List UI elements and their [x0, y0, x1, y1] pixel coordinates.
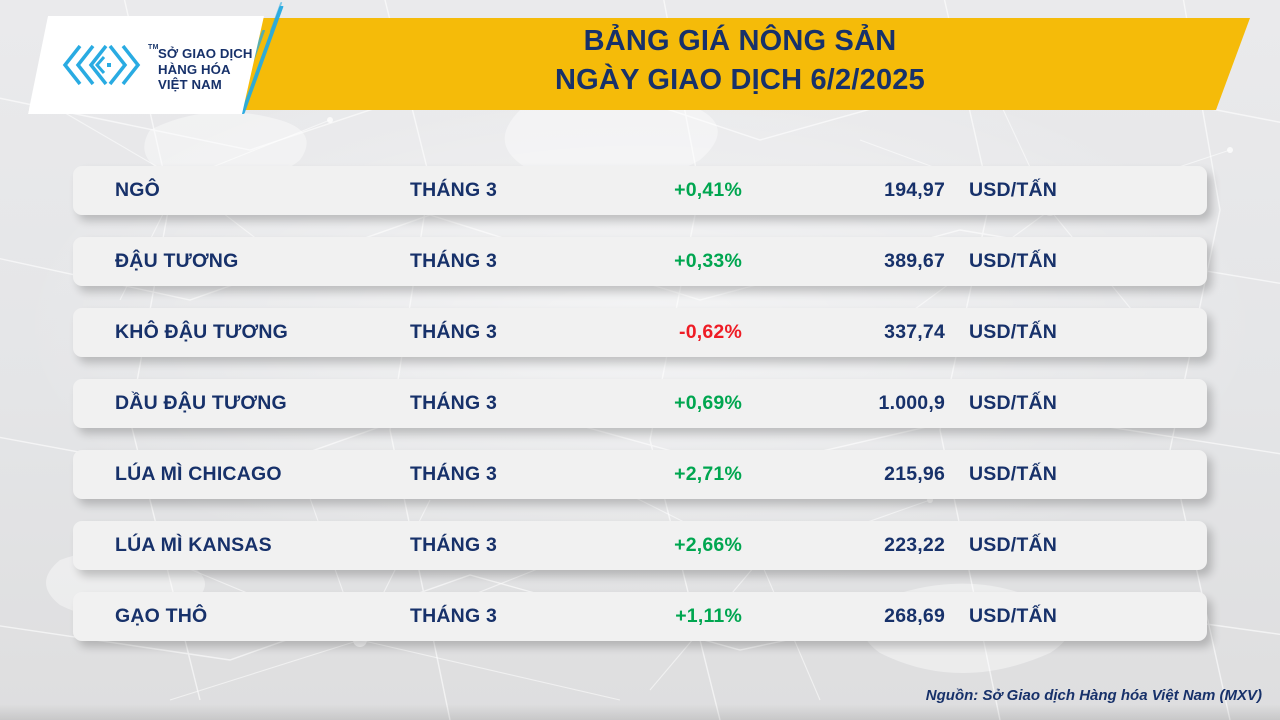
- page-title: BẢNG GIÁ NÔNG SẢN NGÀY GIAO DỊCH 6/2/202…: [300, 22, 1180, 100]
- price-unit: USD/TẤN: [969, 450, 1057, 499]
- logo-line-3: VIỆT NAM: [158, 77, 253, 93]
- commodity-price-table: NGÔ THÁNG 3 +0,41% 194,97 USD/TẤN ĐẬU TƯ…: [73, 166, 1207, 641]
- mxv-chevron-logo-icon: [62, 43, 144, 87]
- change-percent: +0,41%: [674, 166, 742, 215]
- table-row[interactable]: LÚA MÌ CHICAGO THÁNG 3 +2,71% 215,96 USD…: [73, 450, 1207, 499]
- price-unit: USD/TẤN: [969, 237, 1057, 286]
- table-row[interactable]: ĐẬU TƯƠNG THÁNG 3 +0,33% 389,67 USD/TẤN: [73, 237, 1207, 286]
- change-percent: +0,69%: [674, 379, 742, 428]
- commodity-name: ĐẬU TƯƠNG: [115, 237, 238, 286]
- change-percent: +2,71%: [674, 450, 742, 499]
- price-value: 337,74: [884, 308, 945, 357]
- change-percent: -0,62%: [679, 308, 742, 357]
- price-board-page: TM SỞ GIAO DỊCH HÀNG HÓA VIỆT NAM BẢNG G…: [0, 0, 1280, 720]
- contract-month: THÁNG 3: [410, 308, 497, 357]
- table-row[interactable]: DẦU ĐẬU TƯƠNG THÁNG 3 +0,69% 1.000,9 USD…: [73, 379, 1207, 428]
- logo-line-2: HÀNG HÓA: [158, 62, 253, 78]
- price-unit: USD/TẤN: [969, 308, 1057, 357]
- contract-month: THÁNG 3: [410, 521, 497, 570]
- price-unit: USD/TẤN: [969, 166, 1057, 215]
- contract-month: THÁNG 3: [410, 237, 497, 286]
- contract-month: THÁNG 3: [410, 450, 497, 499]
- logo-line-1: SỞ GIAO DỊCH: [158, 46, 253, 62]
- price-value: 268,69: [884, 592, 945, 641]
- bottom-shadow: [0, 704, 1280, 720]
- contract-month: THÁNG 3: [410, 592, 497, 641]
- contract-month: THÁNG 3: [410, 166, 497, 215]
- table-row[interactable]: LÚA MÌ KANSAS THÁNG 3 +2,66% 223,22 USD/…: [73, 521, 1207, 570]
- logo-card: TM SỞ GIAO DỊCH HÀNG HÓA VIỆT NAM: [28, 16, 264, 114]
- title-line-secondary: NGÀY GIAO DỊCH 6/2/2025: [300, 61, 1180, 100]
- price-value: 215,96: [884, 450, 945, 499]
- page-header: TM SỞ GIAO DỊCH HÀNG HÓA VIỆT NAM BẢNG G…: [0, 0, 1280, 118]
- change-percent: +2,66%: [674, 521, 742, 570]
- change-percent: +1,11%: [675, 592, 742, 641]
- change-percent: +0,33%: [674, 237, 742, 286]
- table-row[interactable]: GẠO THÔ THÁNG 3 +1,11% 268,69 USD/TẤN: [73, 592, 1207, 641]
- price-value: 389,67: [884, 237, 945, 286]
- commodity-name: LÚA MÌ KANSAS: [115, 521, 272, 570]
- price-value: 194,97: [884, 166, 945, 215]
- logo-wordmark: SỞ GIAO DỊCH HÀNG HÓA VIỆT NAM: [158, 46, 253, 93]
- commodity-name: GẠO THÔ: [115, 592, 207, 641]
- price-value: 1.000,9: [879, 379, 945, 428]
- commodity-name: DẦU ĐẬU TƯƠNG: [115, 379, 287, 428]
- commodity-name: NGÔ: [115, 166, 160, 215]
- source-attribution: Nguồn: Sở Giao dịch Hàng hóa Việt Nam (M…: [926, 687, 1262, 704]
- contract-month: THÁNG 3: [410, 379, 497, 428]
- title-line-primary: BẢNG GIÁ NÔNG SẢN: [300, 22, 1180, 61]
- price-unit: USD/TẤN: [969, 379, 1057, 428]
- commodity-name: LÚA MÌ CHICAGO: [115, 450, 282, 499]
- table-row[interactable]: KHÔ ĐẬU TƯƠNG THÁNG 3 -0,62% 337,74 USD/…: [73, 308, 1207, 357]
- price-value: 223,22: [884, 521, 945, 570]
- table-row[interactable]: NGÔ THÁNG 3 +0,41% 194,97 USD/TẤN: [73, 166, 1207, 215]
- commodity-name: KHÔ ĐẬU TƯƠNG: [115, 308, 288, 357]
- price-unit: USD/TẤN: [969, 521, 1057, 570]
- price-unit: USD/TẤN: [969, 592, 1057, 641]
